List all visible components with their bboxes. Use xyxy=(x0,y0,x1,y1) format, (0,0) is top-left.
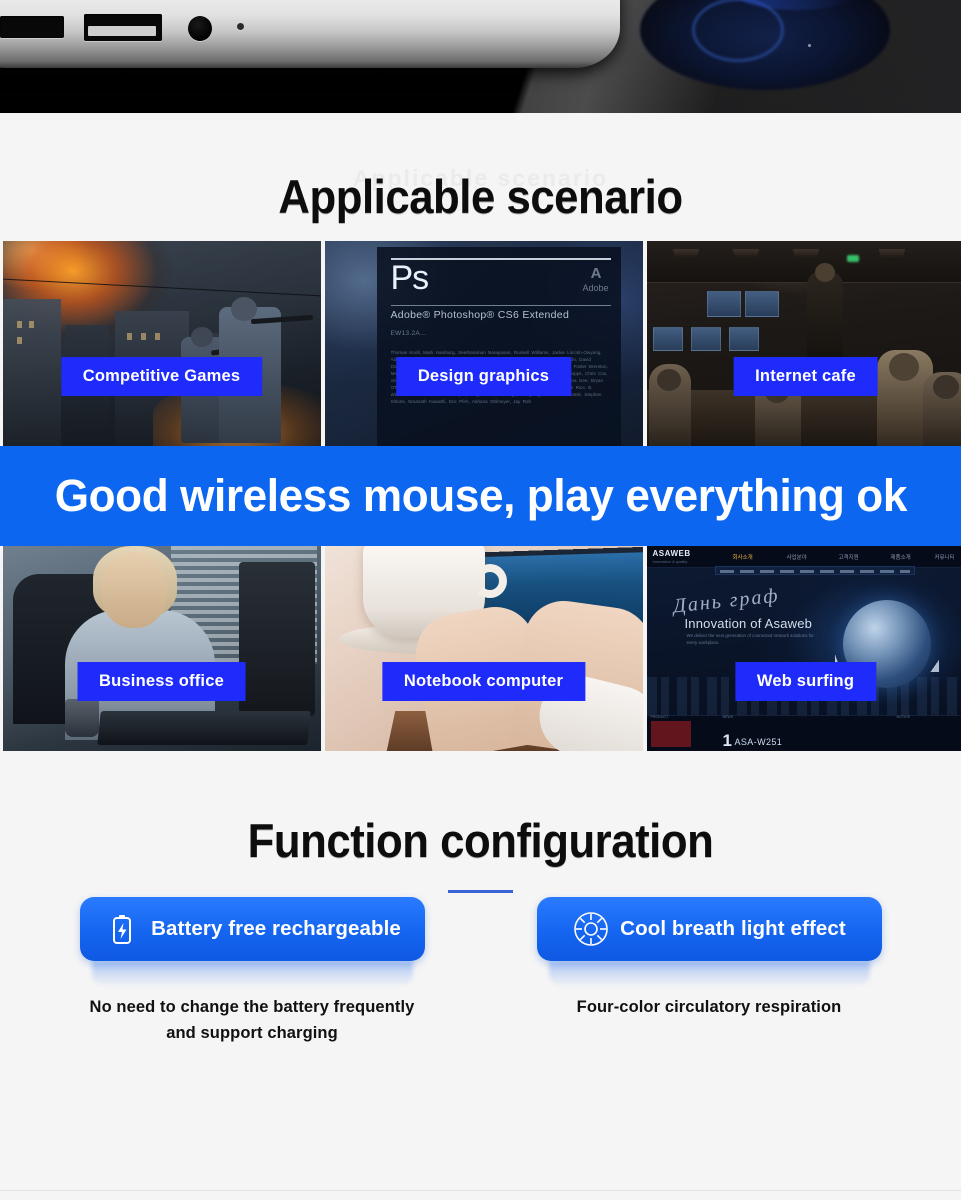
decorative-script: Дань граф xyxy=(672,584,781,618)
window xyxy=(127,333,132,340)
scenario-grid-top: Competitive Games Ps A Adobe Adobe® Phot… xyxy=(2,241,960,446)
function-title-block: Function configuration xyxy=(0,751,961,879)
site-footer: 1 ASA-W251 PRODUCT NEWS NOTICE xyxy=(647,715,961,751)
tile-label: Business office xyxy=(77,662,246,701)
port-usb-wide-icon xyxy=(84,14,162,41)
feature-caption: Four-color circulatory respiration xyxy=(537,995,882,1021)
page-bottom-divider xyxy=(0,1190,961,1191)
monitor-screen xyxy=(729,327,759,351)
scenario-tile-design-graphics[interactable]: Ps A Adobe Adobe® Photoshop® CS6 Extende… xyxy=(325,241,643,446)
footer-caption: NEWS xyxy=(723,715,734,719)
feature-caption: No need to change the battery frequently… xyxy=(80,995,425,1046)
site-tagline-sub: We deliver the next generation of connec… xyxy=(687,632,817,646)
monitor-screen xyxy=(707,291,741,317)
scenario-tile-notebook-computer[interactable]: Notebook computer xyxy=(325,546,643,751)
exit-sign-icon xyxy=(847,255,859,262)
scenario-grid-bottom: Business office Notebook computer ASAWEB… xyxy=(2,546,960,751)
office-artwork xyxy=(3,546,321,751)
patron-head xyxy=(889,353,919,381)
monitor xyxy=(239,562,315,716)
coffee-mug xyxy=(65,699,99,737)
site-nav-item[interactable]: 고객지원 xyxy=(839,553,859,561)
version-string: EW13.2A... xyxy=(391,330,427,337)
slogan-text: Good wireless mouse, play everything ok xyxy=(54,470,906,522)
scenario-title-block: Applicable scenario Applicable scenario xyxy=(0,113,961,241)
scenario-tile-competitive-games[interactable]: Competitive Games xyxy=(3,241,321,446)
rule-line xyxy=(391,305,611,306)
feature-cool-breath-light-effect[interactable]: Cool breath light effect Four-color circ… xyxy=(537,897,882,1046)
staff-head xyxy=(815,263,835,282)
keyboard xyxy=(97,711,311,745)
page-title-scenario: Applicable scenario xyxy=(34,173,928,220)
cafe-staff xyxy=(807,271,843,359)
monitor-screen xyxy=(745,291,779,317)
site-brand: ASAWEB xyxy=(653,549,691,558)
monitor-screen xyxy=(653,327,683,351)
site-nav-item[interactable]: 회사소개 xyxy=(733,553,753,561)
feature-battery-free-rechargeable[interactable]: Battery free rechargeable No need to cha… xyxy=(80,897,425,1046)
feature-pill[interactable]: Battery free rechargeable xyxy=(80,897,425,961)
ceiling xyxy=(647,241,961,283)
site-subnav xyxy=(715,566,915,575)
slogan-banner: Good wireless mouse, play everything ok xyxy=(0,446,961,546)
product-name: Adobe® Photoshop® CS6 Extended xyxy=(391,309,570,321)
brightness-sun-icon xyxy=(572,910,610,948)
person-head xyxy=(101,552,167,628)
window xyxy=(141,333,146,340)
soldier-head xyxy=(231,297,257,321)
soldier-head xyxy=(191,327,213,347)
power-line xyxy=(3,279,321,297)
window xyxy=(29,321,34,328)
site-tagline: Innovation of Asaweb xyxy=(685,616,813,631)
adobe-mark: A xyxy=(582,265,608,283)
footer-promo-box xyxy=(651,721,691,747)
splash-panel: Ps A Adobe Adobe® Photoshop® CS6 Extende… xyxy=(377,247,621,446)
tile-label: Internet cafe xyxy=(733,357,878,396)
photoshop-splash-artwork: Ps A Adobe Adobe® Photoshop® CS6 Extende… xyxy=(325,241,643,446)
window xyxy=(155,333,160,340)
page-title-function: Function configuration xyxy=(34,813,928,868)
title-underline-divider xyxy=(448,890,513,893)
feature-label: Cool breath light effect xyxy=(620,917,846,941)
site-nav-item[interactable]: 사업분야 xyxy=(787,553,807,561)
scenario-tile-web-surfing[interactable]: ASAWEB Innovation & quality 회사소개 사업분야 고객… xyxy=(647,546,961,751)
site-nav-item[interactable]: 제품소개 xyxy=(891,553,911,561)
port-usb-a-icon xyxy=(0,16,64,38)
hero-product-photo xyxy=(0,0,961,113)
internet-cafe-artwork xyxy=(647,241,961,446)
site-nav-item[interactable]: 커뮤니티 xyxy=(935,553,955,561)
status-pin-icon xyxy=(237,23,244,30)
cup-handle xyxy=(473,564,507,598)
monitor-screen xyxy=(691,327,721,351)
footer-caption: NOTICE xyxy=(897,715,911,719)
feature-list: Battery free rechargeable No need to cha… xyxy=(0,879,961,1046)
feature-pill[interactable]: Cool breath light effect xyxy=(537,897,882,961)
laptop-typing-artwork xyxy=(325,546,643,751)
battery-charging-icon xyxy=(103,910,141,948)
site-brand-subtitle: Innovation & quality xyxy=(653,559,688,564)
window xyxy=(17,321,22,328)
game-battle-artwork xyxy=(3,241,321,446)
adobe-logo-icon: A Adobe xyxy=(582,265,608,294)
tile-label: Notebook computer xyxy=(382,662,585,701)
footer-number: 1 xyxy=(723,732,732,749)
adobe-wordmark: Adobe xyxy=(582,283,608,293)
patron-head xyxy=(933,375,959,399)
feature-label: Battery free rechargeable xyxy=(151,917,401,941)
footer-caption: PRODUCT xyxy=(651,715,669,719)
scenario-tile-internet-cafe[interactable]: Internet cafe xyxy=(647,241,961,446)
footer-model: ASA-W251 xyxy=(735,737,783,747)
tile-label: Design graphics xyxy=(396,357,571,396)
tile-label: Competitive Games xyxy=(61,357,262,396)
tile-label: Web surfing xyxy=(735,662,876,701)
window xyxy=(17,337,22,344)
patron-head xyxy=(657,369,681,391)
photoshop-logo: Ps xyxy=(391,261,429,295)
laptop-edge-graphic xyxy=(0,0,620,68)
light-glint xyxy=(808,44,811,47)
website-artwork: ASAWEB Innovation & quality 회사소개 사업분야 고객… xyxy=(647,546,961,751)
scenario-tile-business-office[interactable]: Business office xyxy=(3,546,321,751)
audio-jack-icon xyxy=(188,16,212,41)
